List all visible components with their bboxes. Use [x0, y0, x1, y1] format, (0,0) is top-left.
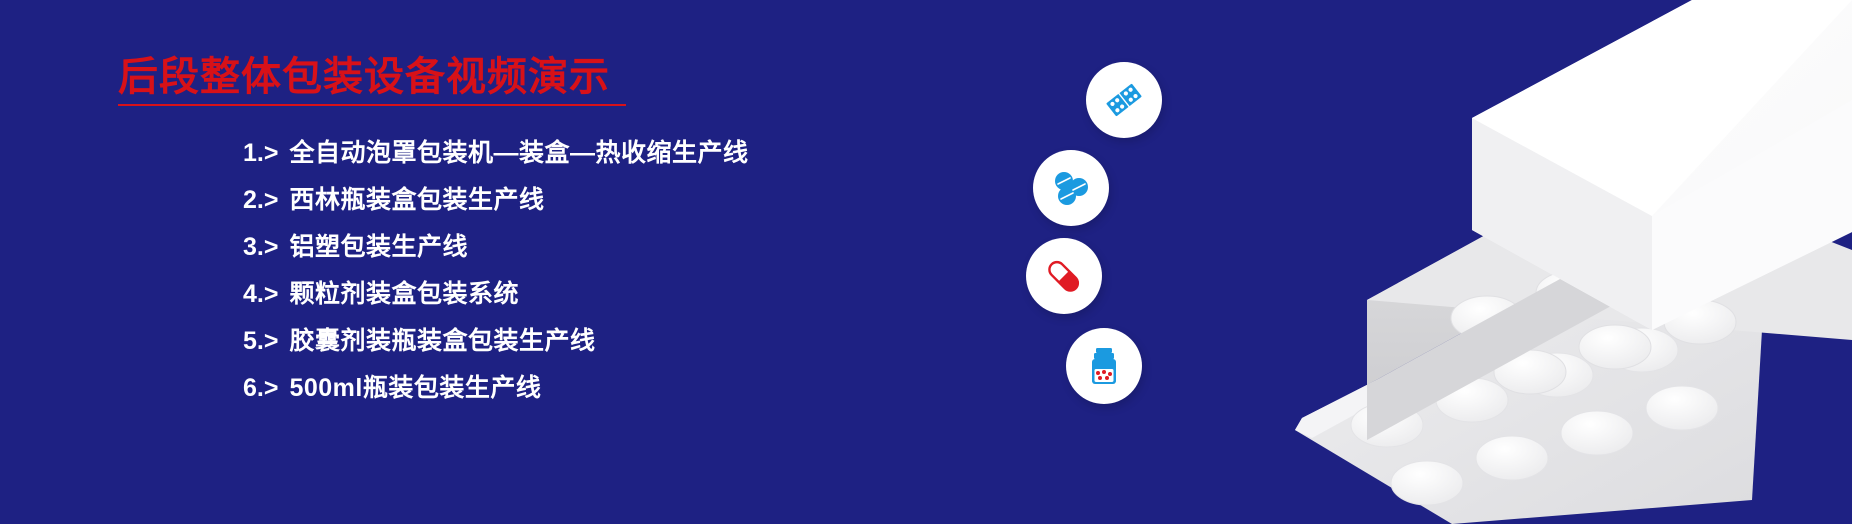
list-item-label: 颗粒剂装盒包装系统: [289, 274, 519, 310]
blister-pack-icon: [1086, 62, 1162, 138]
tablets-glyph: [1047, 164, 1095, 212]
list-item[interactable]: 5.> 胶囊剂装瓶装盒包装生产线: [243, 321, 748, 368]
list-item-index: 5.>: [243, 327, 278, 356]
feature-list: 1.> 全自动泡罩包装机—装盒—热收缩生产线 2.> 西林瓶装盒包装生产线 3.…: [243, 133, 748, 415]
list-item-label: 西林瓶装盒包装生产线: [289, 180, 544, 216]
capsule-glyph: [1040, 252, 1088, 300]
capsule-icon: [1026, 238, 1102, 314]
tablets-icon: [1033, 150, 1109, 226]
list-item-label: 铝塑包装生产线: [289, 227, 468, 263]
pharmaceutical-box-illustration: [1152, 0, 1852, 524]
list-item-index: 6.>: [243, 374, 278, 403]
pill-bottle-icon: [1066, 328, 1142, 404]
pill-bottle-glyph: [1080, 342, 1128, 390]
list-item[interactable]: 3.> 铝塑包装生产线: [243, 227, 748, 274]
list-item-index: 2.>: [243, 186, 278, 215]
list-item[interactable]: 6.> 500ml瓶装包装生产线: [243, 368, 748, 415]
list-item-index: 3.>: [243, 233, 278, 262]
page-title: 后段整体包装设备视频演示: [118, 44, 610, 102]
blister-pack-glyph: [1099, 75, 1149, 125]
promo-banner: 后段整体包装设备视频演示 1.> 全自动泡罩包装机—装盒—热收缩生产线 2.> …: [0, 0, 1852, 524]
list-item-index: 1.>: [243, 139, 278, 168]
title-underline: [118, 104, 626, 106]
list-item-label: 胶囊剂装瓶装盒包装生产线: [289, 321, 595, 357]
carton-lid: [1472, 0, 1852, 330]
blister-tray: [1295, 260, 1762, 524]
carton-body: [1367, 160, 1852, 440]
text-block: 后段整体包装设备视频演示 1.> 全自动泡罩包装机—装盒—热收缩生产线 2.> …: [0, 0, 1000, 524]
list-item-index: 4.>: [243, 280, 278, 309]
list-item[interactable]: 2.> 西林瓶装盒包装生产线: [243, 180, 748, 227]
list-item-label: 全自动泡罩包装机—装盒—热收缩生产线: [289, 133, 748, 169]
list-item[interactable]: 4.> 颗粒剂装盒包装系统: [243, 274, 748, 321]
list-item-label: 500ml瓶装包装生产线: [289, 368, 541, 404]
list-item[interactable]: 1.> 全自动泡罩包装机—装盒—热收缩生产线: [243, 133, 748, 180]
